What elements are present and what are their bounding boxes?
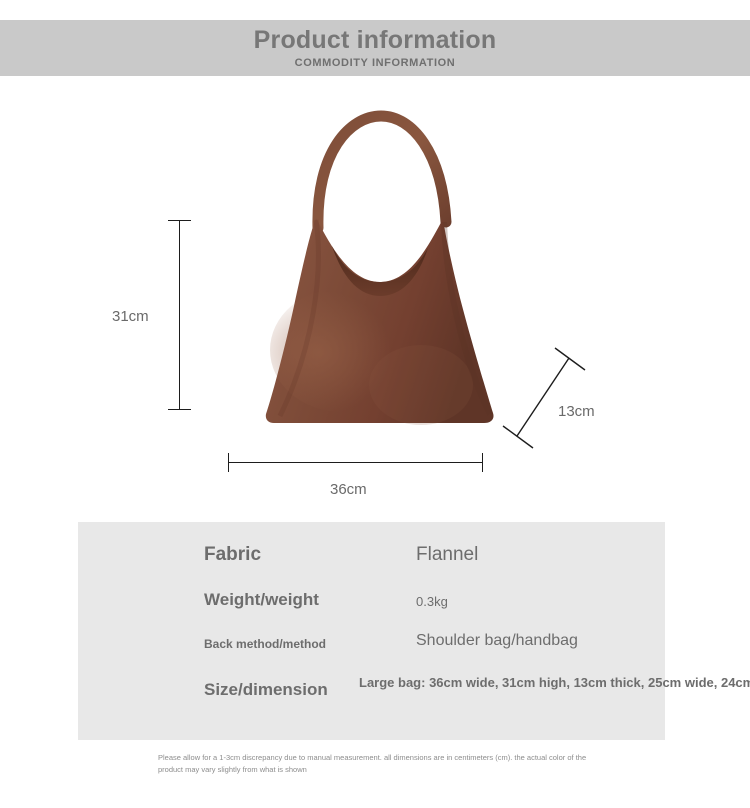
spec-value-weight: 0.3kg xyxy=(416,590,448,609)
spec-label-fabric: Fabric xyxy=(204,544,416,566)
height-measure-cap-bottom xyxy=(168,409,191,410)
width-measure-cap-right xyxy=(482,453,483,472)
width-measure-line xyxy=(228,462,483,463)
spec-row-fabric: Fabric Flannel xyxy=(78,544,665,566)
spec-row-back-method: Back method/method Shoulder bag/handbag xyxy=(78,632,665,651)
measurement-disclaimer: Please allow for a 1-3cm discrepancy due… xyxy=(158,752,608,775)
height-measure-cap-top xyxy=(168,220,191,221)
page-header-banner: Product information COMMODITY INFORMATIO… xyxy=(0,20,750,76)
width-measure-cap-left xyxy=(228,453,229,472)
width-measure-label: 36cm xyxy=(330,481,367,498)
spec-label-back-method: Back method/method xyxy=(204,632,416,651)
spec-row-weight: Weight/weight 0.3kg xyxy=(78,590,665,610)
spec-value-back-method: Shoulder bag/handbag xyxy=(416,632,578,650)
spec-row-size: Size/dimension Large bag: 36cm wide, 31c… xyxy=(78,674,665,700)
spec-value-size: Large bag: 36cm wide, 31cm high, 13cm th… xyxy=(359,674,750,693)
specification-panel: Fabric Flannel Weight/weight 0.3kg Back … xyxy=(78,522,665,740)
height-measure-line xyxy=(179,221,180,410)
product-illustration-stage xyxy=(0,76,750,516)
spec-value-fabric: Flannel xyxy=(416,544,478,566)
page-subtitle: COMMODITY INFORMATION xyxy=(295,57,456,69)
depth-measure-line xyxy=(495,340,625,450)
product-image-handbag xyxy=(246,100,516,430)
spec-label-size: Size/dimension xyxy=(204,674,359,700)
height-measure-label: 31cm xyxy=(112,308,149,325)
depth-measure-label: 13cm xyxy=(558,403,595,420)
page-title: Product information xyxy=(254,27,497,54)
spec-label-weight: Weight/weight xyxy=(204,590,416,610)
